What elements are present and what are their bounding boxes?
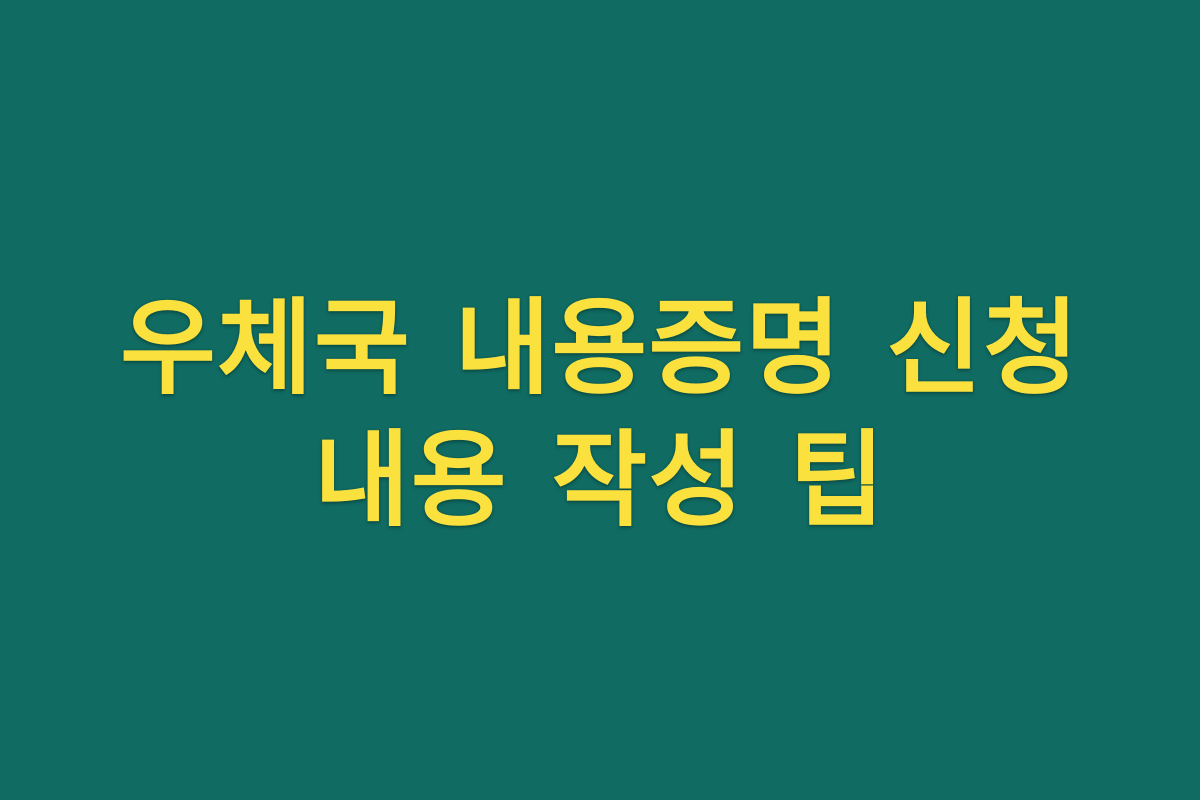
- thumbnail-canvas: 우체국 내용증명 신청 내용 작성 팁: [0, 0, 1200, 800]
- headline-title: 우체국 내용증명 신청 내용 작성 팁: [70, 282, 1130, 546]
- headline-block: 우체국 내용증명 신청 내용 작성 팁: [70, 282, 1130, 546]
